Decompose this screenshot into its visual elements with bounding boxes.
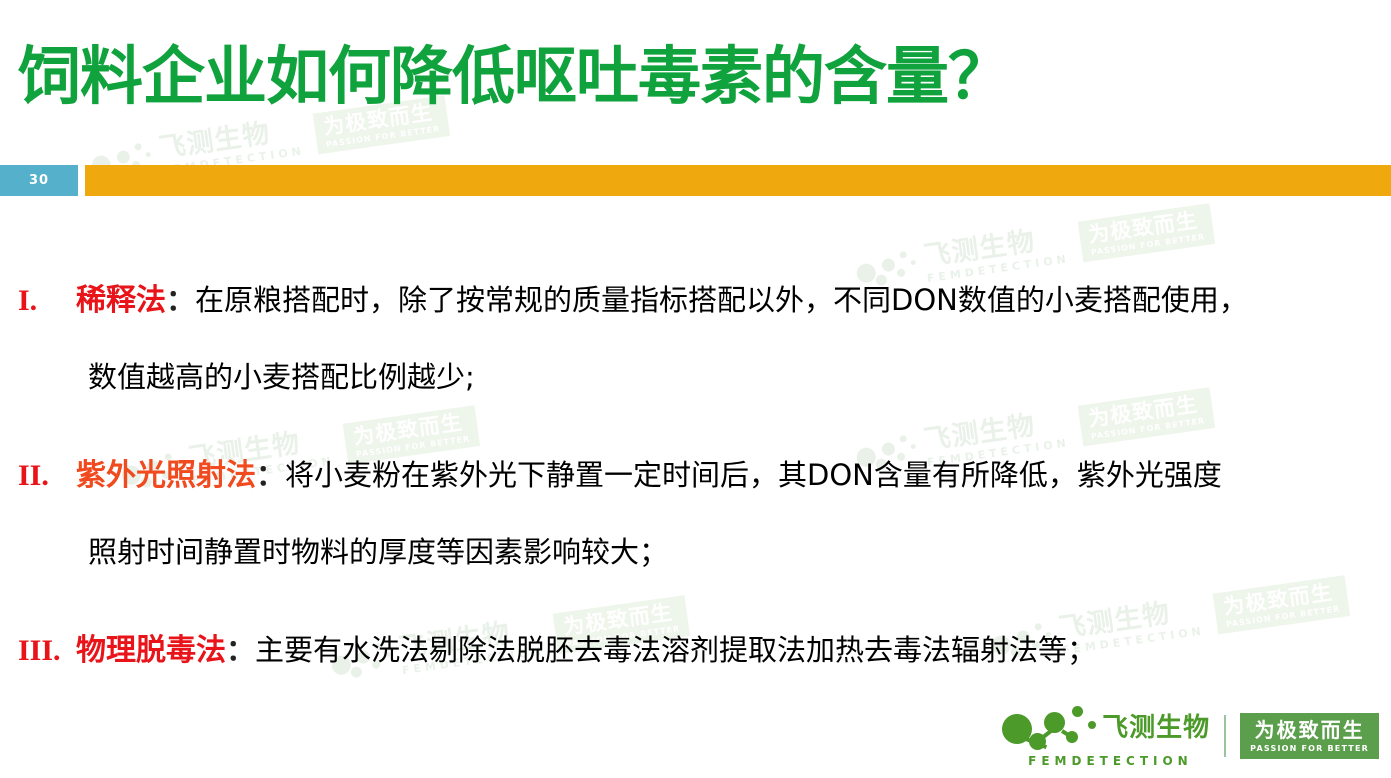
logo-tagline-cn: 为极致而生: [1255, 720, 1365, 740]
list-item-line: I.稀释法：在原粮搭配时，除了按常规的质量指标搭配以外，不同DON数值的小麦搭配…: [0, 262, 1391, 339]
list-item: II.紫外光照射法：将小麦粉在紫外光下静置一定时间后，其DON含量有所降低，紫外…: [0, 437, 1391, 590]
list-item-colon: ：: [166, 283, 195, 317]
logo-divider: [1224, 715, 1226, 757]
slide-canvas: 飞测生物 FEMDETECTION 为极致而生 PASSION FOR BETT…: [0, 0, 1391, 778]
list-item-text: 在原粮搭配时，除了按常规的质量指标搭配以外，不同DON数值的小麦搭配使用，: [195, 283, 1248, 317]
list-item: III.物理脱毒法：主要有水洗法剔除法脱胚去毒法溶剂提取法加热去毒法辐射法等；: [0, 612, 1391, 689]
list-item-label: 稀释法: [76, 283, 166, 318]
list-item-line: 照射时间静置时物料的厚度等因素影响较大；: [0, 514, 1391, 590]
molecule-icon: [1002, 704, 1098, 752]
list-marker: I.: [18, 263, 76, 339]
logo-brand-cn: 飞测生物: [1102, 715, 1210, 741]
watermark-brand-cn: 飞测生物: [157, 116, 303, 163]
watermark-tagline-cn: 为极致而生: [1087, 209, 1204, 246]
list-marker: III.: [18, 613, 76, 689]
header-accent-bar: [85, 165, 1391, 196]
logo-tagline-box: 为极致而生 PASSION FOR BETTER: [1240, 713, 1379, 759]
list-item-line: III.物理脱毒法：主要有水洗法剔除法脱胚去毒法溶剂提取法加热去毒法辐射法等；: [0, 612, 1391, 689]
list-item-text: 主要有水洗法剔除法脱胚去毒法溶剂提取法加热去毒法辐射法等；: [255, 633, 1096, 667]
watermark-tagline-en: PASSION FOR BETTER: [1091, 233, 1206, 257]
list-item-label: 物理脱毒法: [76, 633, 226, 668]
page-title: 饲料企业如何降低呕吐毒素的含量？: [18, 44, 1010, 110]
list-item-text: 数值越高的小麦搭配比例越少;: [88, 360, 475, 394]
watermark-tagline-en: PASSION FOR BETTER: [326, 125, 441, 149]
list-item-text: 将小麦粉在紫外光下静置一定时间后，其DON含量有所降低，紫外光强度: [285, 458, 1222, 492]
list-item-label: 紫外光照射法: [76, 458, 256, 493]
page-number-label: 30: [29, 173, 49, 188]
company-logo: 飞测生物 FEMDETECTION 为极致而生 PASSION FOR BETT…: [1002, 704, 1379, 768]
list-item-line: II.紫外光照射法：将小麦粉在紫外光下静置一定时间后，其DON含量有所降低，紫外…: [0, 437, 1391, 514]
list-item-colon: ：: [256, 458, 285, 492]
page-number-badge: 30: [0, 165, 78, 196]
logo-brand-en: FEMDETECTION: [1002, 754, 1193, 768]
list-item-colon: ：: [226, 633, 255, 667]
list-item-line: 数值越高的小麦搭配比例越少;: [0, 339, 1391, 415]
content-list: I.稀释法：在原粮搭配时，除了按常规的质量指标搭配以外，不同DON数值的小麦搭配…: [0, 262, 1391, 711]
logo-tagline-en: PASSION FOR BETTER: [1250, 745, 1369, 753]
list-item: I.稀释法：在原粮搭配时，除了按常规的质量指标搭配以外，不同DON数值的小麦搭配…: [0, 262, 1391, 415]
logo-mark: 飞测生物 FEMDETECTION: [1002, 704, 1210, 768]
list-marker: II.: [18, 438, 76, 514]
list-item-text: 照射时间静置时物料的厚度等因素影响较大；: [88, 535, 668, 569]
